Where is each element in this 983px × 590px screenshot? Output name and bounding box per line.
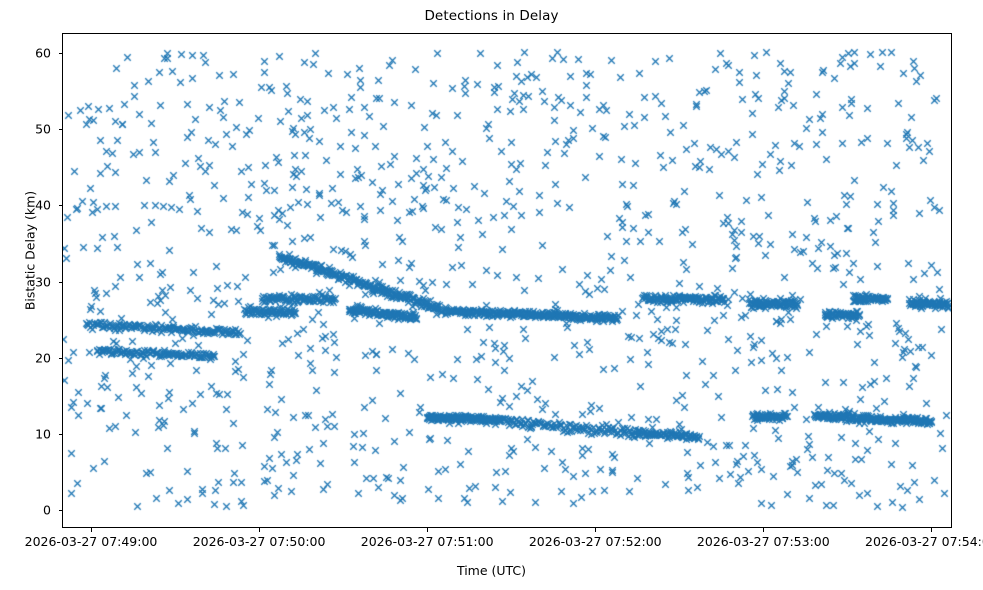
x-tick-label: 2026-03-27 07:50:00	[193, 534, 326, 549]
x-axis-tick-labels: 2026-03-27 07:49:002026-03-27 07:50:0020…	[0, 534, 983, 556]
x-axis-label: Time (UTC)	[0, 563, 983, 578]
plot-area	[62, 33, 952, 528]
figure-canvas: Detections in Delay Bistatic Delay (km) …	[0, 0, 983, 590]
x-tick-label: 2026-03-27 07:54:00	[865, 534, 983, 549]
x-tick-mark	[259, 528, 260, 532]
x-tick-mark	[595, 528, 596, 532]
x-tick-mark	[91, 528, 92, 532]
x-tick-label: 2026-03-27 07:52:00	[529, 534, 662, 549]
x-tick-label: 2026-03-27 07:53:00	[697, 534, 830, 549]
x-tick-mark	[931, 528, 932, 532]
x-tick-mark	[763, 528, 764, 532]
scatter-plot-points	[63, 34, 951, 527]
y-axis-tick-marks	[0, 33, 62, 528]
x-tick-label: 2026-03-27 07:49:00	[25, 534, 158, 549]
chart-title: Detections in Delay	[0, 8, 983, 24]
x-tick-mark	[427, 528, 428, 532]
x-tick-label: 2026-03-27 07:51:00	[361, 534, 494, 549]
